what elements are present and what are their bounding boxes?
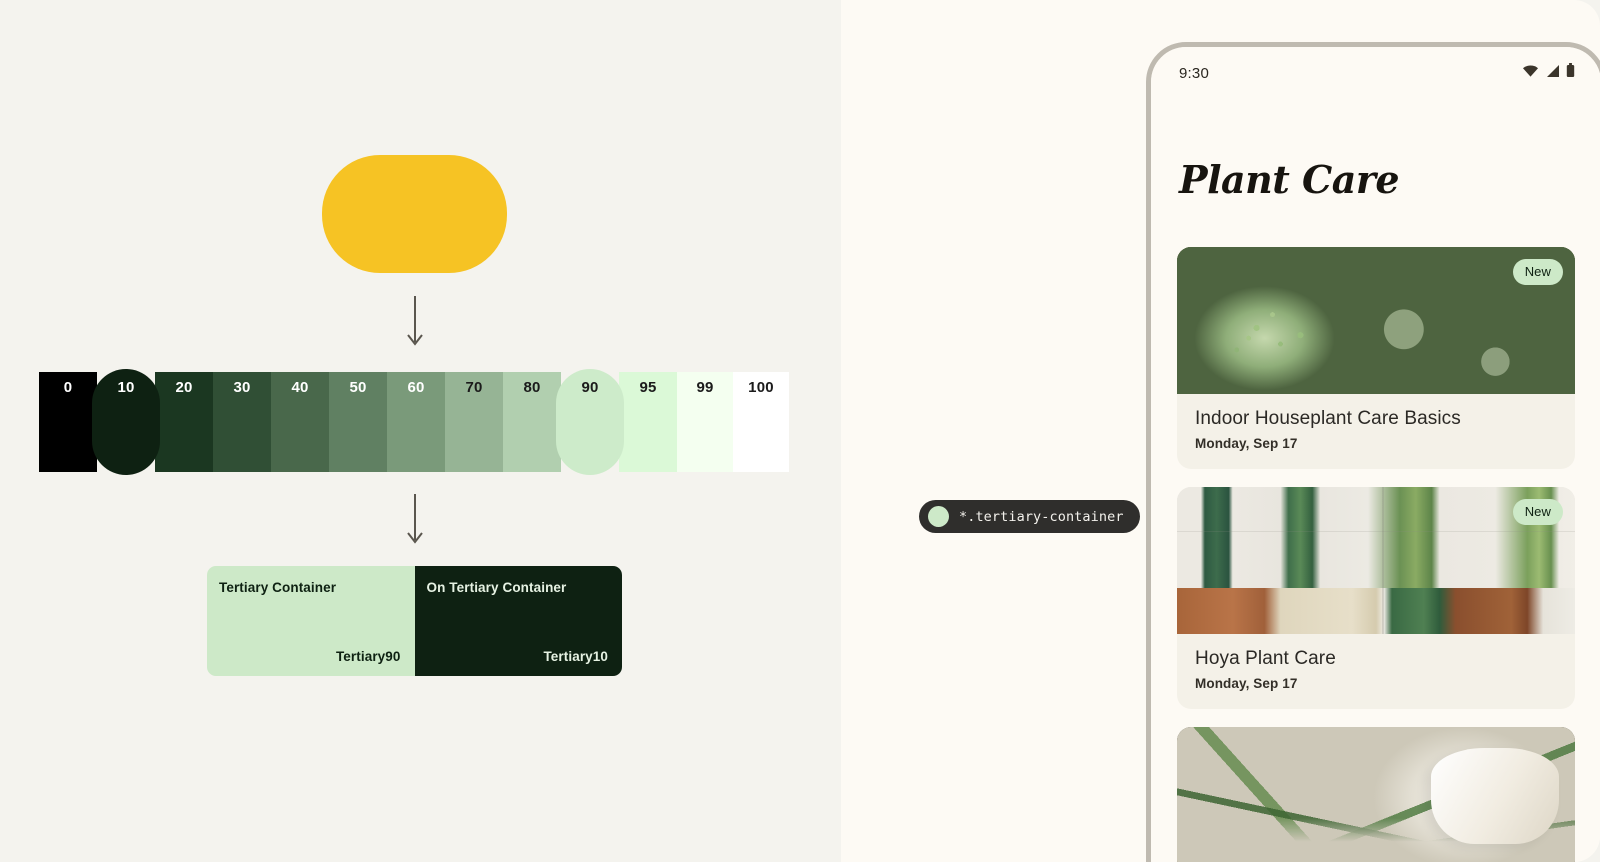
tone-label: 50 [349,380,366,472]
tone-label: 90 [581,380,598,475]
wifi-icon [1522,64,1539,83]
tone-swatch-0[interactable]: 0 [39,372,97,472]
card-title: Hoya Plant Care [1195,648,1557,670]
status-icons [1522,63,1575,83]
tone-swatch-30[interactable]: 30 [213,372,271,472]
new-badge: New [1513,499,1563,525]
tone-label: 99 [696,380,713,472]
phone-screen: 9:30 [1151,47,1600,862]
on-tertiary-container-swatch[interactable]: On Tertiary Container Tertiary10 [415,566,623,676]
tertiary-tonal-palette: 01020304050607080909599100 [39,372,789,472]
tone-label: 20 [175,380,192,472]
phone-mockup: 9:30 [1146,42,1600,862]
card-media [1177,727,1575,862]
tone-swatch-95[interactable]: 95 [619,372,677,472]
cellular-signal-icon [1545,64,1560,83]
card-date: Monday, Sep 17 [1195,676,1557,691]
tone-swatch-70[interactable]: 70 [445,372,503,472]
card-media: New [1177,487,1575,634]
tone-swatch-60[interactable]: 60 [387,372,445,472]
tertiary-container-swatch[interactable]: Tertiary Container Tertiary90 [207,566,415,676]
status-time: 9:30 [1179,65,1209,82]
card-photo-watering [1177,727,1575,862]
plant-care-card[interactable] [1177,727,1575,862]
tone-swatch-40[interactable]: 40 [271,372,329,472]
arrow-down-top-icon [402,296,428,352]
tone-label: 40 [291,380,308,472]
tone-swatch-10[interactable]: 10 [92,369,160,475]
callout-token-text: *.tertiary-container [959,509,1124,525]
on-tertiary-container-tone: Tertiary10 [427,649,609,664]
card-title: Indoor Houseplant Care Basics [1195,408,1557,430]
battery-icon [1566,63,1575,83]
on-tertiary-container-label: On Tertiary Container [427,580,609,595]
tone-swatch-100[interactable]: 100 [733,372,789,472]
tone-label: 100 [748,380,774,472]
plant-care-card[interactable]: NewIndoor Houseplant Care BasicsMonday, … [1177,247,1575,469]
tone-swatch-20[interactable]: 20 [155,372,213,472]
arrow-down-bottom-icon [402,494,428,550]
tone-swatch-99[interactable]: 99 [677,372,733,472]
source-color-swatch[interactable] [322,155,507,273]
tone-label: 60 [407,380,424,472]
tertiary-container-tone: Tertiary90 [219,649,401,664]
tone-swatch-50[interactable]: 50 [329,372,387,472]
new-badge: New [1513,259,1563,285]
tertiary-container-roles: Tertiary Container Tertiary90 On Tertiar… [207,566,622,676]
card-body: Hoya Plant CareMonday, Sep 17 [1177,634,1575,709]
tone-label: 0 [64,380,73,472]
palette-panel: 01020304050607080909599100 Tertiary Cont… [0,0,841,862]
tone-label: 10 [117,380,134,475]
tone-label: 95 [639,380,656,472]
plant-care-card[interactable]: NewHoya Plant CareMonday, Sep 17 [1177,487,1575,709]
card-body: Indoor Houseplant Care BasicsMonday, Sep… [1177,394,1575,469]
tertiary-container-label: Tertiary Container [219,580,401,595]
tone-swatch-90[interactable]: 90 [556,369,624,475]
callout-color-swatch-icon [928,506,949,527]
card-date: Monday, Sep 17 [1195,436,1557,451]
tone-label: 70 [465,380,482,472]
tone-label: 80 [523,380,540,472]
card-media: New [1177,247,1575,394]
status-bar: 9:30 [1151,47,1600,99]
tone-label: 30 [233,380,250,472]
device-preview-panel: 9:30 [841,0,1600,862]
tertiary-container-callout[interactable]: *.tertiary-container [919,500,1140,533]
tone-swatch-80[interactable]: 80 [503,372,561,472]
page-title: Plant Care [1179,157,1399,202]
screenshot-root: 01020304050607080909599100 Tertiary Cont… [0,0,1600,862]
plant-care-card-list: NewIndoor Houseplant Care BasicsMonday, … [1177,247,1575,862]
